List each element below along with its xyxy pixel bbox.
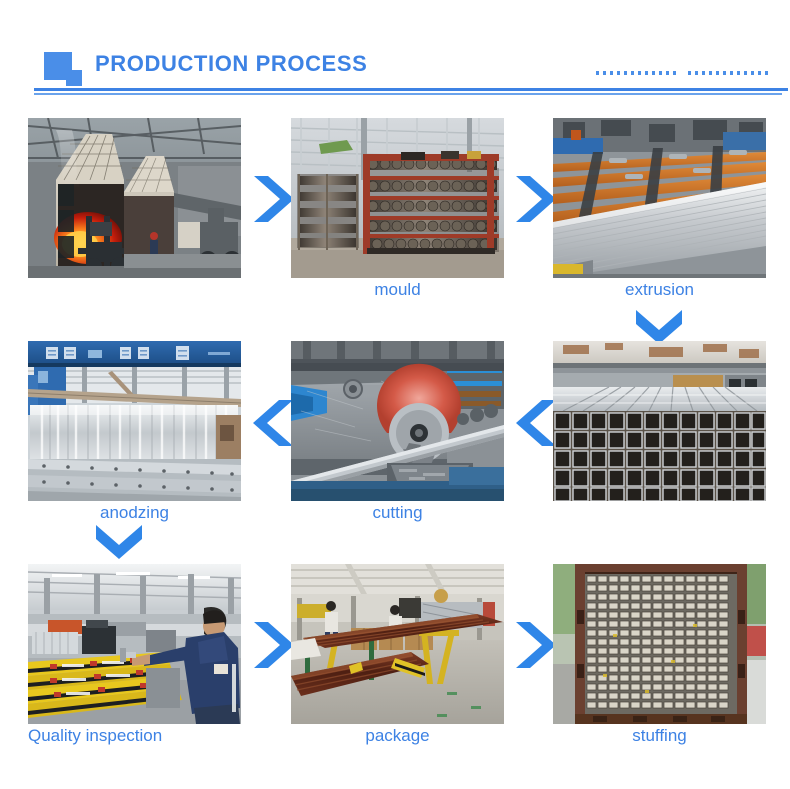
step-extrusion-image [553,118,766,278]
header-dots-right [688,71,768,75]
step-cutting-label: cutting [291,503,504,523]
step-mould-label: mould [291,280,504,300]
step-stuffing-image [553,564,766,724]
header-dots-left [596,71,676,75]
step-melting-image [28,118,241,278]
logo-square-small-icon [66,70,82,86]
step-cutting-image [291,341,504,501]
step-quality-inspection-label: Quality inspection [28,726,288,746]
step-profiles-image [553,341,766,501]
page-title: PRODUCTION PROCESS [95,51,367,77]
step-anodzing-image [28,341,241,501]
step-quality-inspection-image [28,564,241,724]
step-mould-image [291,118,504,278]
step-anodzing-label: anodzing [28,503,241,523]
step-package-label: package [291,726,504,746]
step-extrusion-label: extrusion [553,280,766,300]
arrow-anodzing-to-quality [92,521,146,563]
header-rule-thick [34,88,788,91]
step-stuffing-label: stuffing [553,726,766,746]
header-rule-thin [34,93,782,95]
step-package-image [291,564,504,724]
page-header: PRODUCTION PROCESS [0,0,790,100]
